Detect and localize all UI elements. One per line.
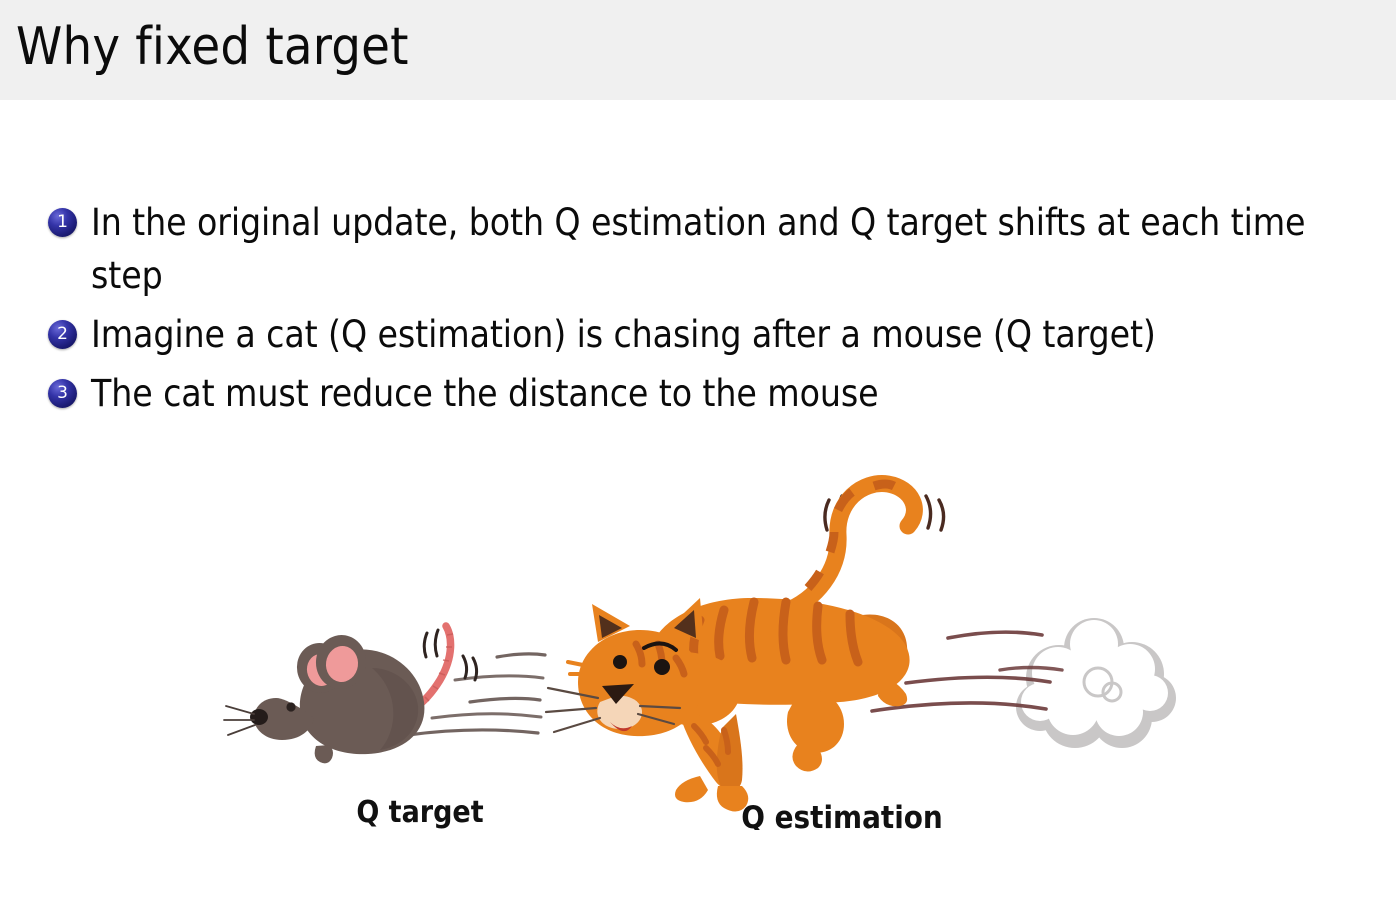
list-item: 1 In the original update, both Q estimat…	[48, 196, 1378, 302]
mouse-eye	[286, 702, 295, 711]
bullet-list: 1 In the original update, both Q estimat…	[48, 196, 1378, 426]
bullet-text: In the original update, both Q estimatio…	[91, 196, 1357, 302]
bullet-number-marker: 2	[48, 320, 77, 349]
cat-front-paw-far	[675, 776, 708, 802]
bullet-number-marker: 3	[48, 379, 77, 408]
page-title: Why fixed target	[16, 17, 409, 77]
chase-illustration: Q target	[0, 430, 1396, 910]
bullet-text: The cat must reduce the distance to the …	[91, 367, 1378, 420]
illustration-svg: Q target	[0, 430, 1396, 830]
mouse-caption: Q target	[356, 795, 483, 830]
mouse-front-paw	[315, 745, 333, 763]
cat-figure: Q estimation	[546, 484, 944, 830]
dust-cloud	[1016, 618, 1176, 748]
bullet-number-marker: 1	[48, 208, 77, 237]
list-item: 2 Imagine a cat (Q estimation) is chasin…	[48, 308, 1378, 361]
bullet-text: Imagine a cat (Q estimation) is chasing …	[91, 308, 1378, 361]
cat-eye-left	[613, 655, 627, 669]
cat-tail	[784, 484, 914, 612]
cat-hind-paw-near	[792, 744, 822, 772]
mouse-figure: Q target	[224, 626, 545, 830]
cat-eye-right	[654, 659, 670, 675]
list-item: 3 The cat must reduce the distance to th…	[48, 367, 1378, 420]
mouse-nose	[250, 709, 268, 725]
cat-muzzle	[597, 696, 642, 729]
cat-caption: Q estimation	[741, 800, 943, 830]
mouse-whiskers	[224, 706, 255, 735]
